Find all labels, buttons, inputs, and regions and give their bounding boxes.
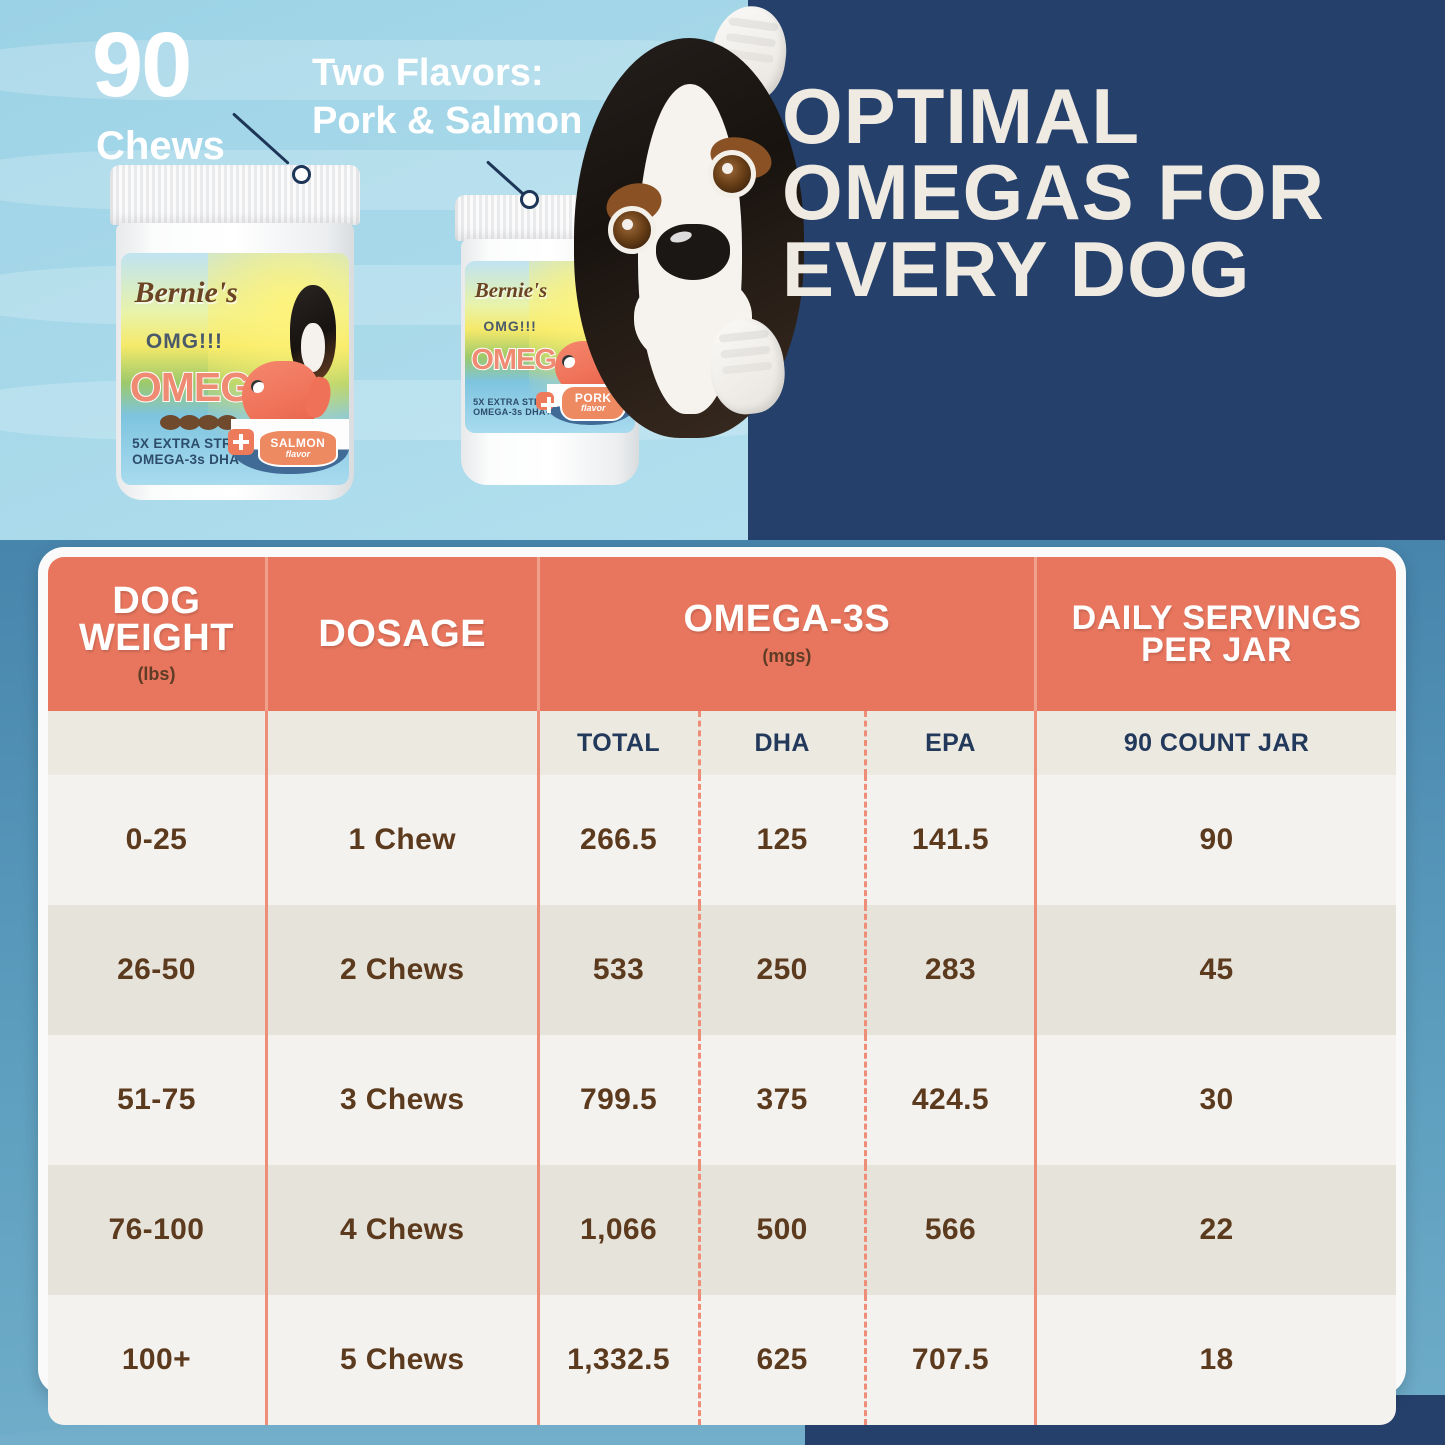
table-header-group: DOG WEIGHT (lbs) DOSAGE OMEGA-3S (mgs) D…	[46, 555, 1398, 711]
cell-epa: 283	[865, 905, 1035, 1035]
infographic-page: Bernie's OMG!!! OMEGAS 5X EXTRA STRENGTH…	[0, 0, 1445, 1445]
dog-nose-icon	[656, 224, 730, 280]
plus-icon	[536, 392, 554, 410]
cell-weight: 100+	[46, 1295, 266, 1427]
cell-dha: 250	[699, 905, 865, 1035]
table-header-row: DOG WEIGHT (lbs) DOSAGE OMEGA-3S (mgs) D…	[46, 555, 1398, 711]
cell-weight: 76-100	[46, 1165, 266, 1295]
label-omg: OMG!!!	[483, 318, 536, 334]
dog-eye-left	[608, 206, 656, 254]
header-daily-servings: DAILY SERVINGS PER JAR	[1036, 555, 1398, 711]
cell-epa: 141.5	[865, 775, 1035, 905]
cell-servings: 90	[1036, 775, 1398, 905]
header-dog-weight: DOG WEIGHT (lbs)	[46, 555, 266, 711]
cell-dosage: 4 Chews	[266, 1165, 538, 1295]
flavor-badge-salmon: SALMON flavor	[258, 429, 338, 467]
cell-dosage: 1 Chew	[266, 775, 538, 905]
cell-weight: 26-50	[46, 905, 266, 1035]
subheader-dha: DHA	[699, 711, 865, 775]
cell-epa: 424.5	[865, 1035, 1035, 1165]
flavors-callout: Two Flavors: Pork & Salmon	[312, 50, 582, 145]
header-omega-3s: OMEGA-3S (mgs)	[538, 555, 1036, 711]
label-omg: OMG!!!	[146, 330, 223, 354]
cell-dosage: 5 Chews	[266, 1295, 538, 1427]
cell-weight: 51-75	[46, 1035, 266, 1165]
cell-servings: 30	[1036, 1035, 1398, 1165]
product-jar-salmon: Bernie's OMG!!! OMEGAS 5X EXTRA STRENGTH…	[110, 165, 360, 500]
dosage-table-container: DOG WEIGHT (lbs) DOSAGE OMEGA-3S (mgs) D…	[38, 547, 1406, 1395]
headline-line-3: EVERY DOG	[782, 231, 1422, 307]
cell-total: 1,332.5	[538, 1295, 699, 1427]
label-brand: Bernie's	[134, 276, 237, 310]
leader-dot-chews	[292, 165, 311, 184]
label-brand: Bernie's	[475, 278, 547, 303]
cell-servings: 18	[1036, 1295, 1398, 1427]
dosage-table: DOG WEIGHT (lbs) DOSAGE OMEGA-3S (mgs) D…	[44, 553, 1400, 1429]
jar-lid	[110, 165, 360, 225]
cell-total: 1,066	[538, 1165, 699, 1295]
table-row: 76-100 4 Chews 1,066 500 566 22	[46, 1165, 1398, 1295]
subheader-epa: EPA	[865, 711, 1035, 775]
cell-servings: 45	[1036, 905, 1398, 1035]
chew-count-number: 90	[92, 22, 190, 109]
table-subheader-row: TOTAL DHA EPA 90 COUNT JAR	[46, 711, 1398, 775]
cell-dosage: 3 Chews	[266, 1035, 538, 1165]
table-row: 51-75 3 Chews 799.5 375 424.5 30	[46, 1035, 1398, 1165]
cell-dha: 625	[699, 1295, 865, 1427]
cell-servings: 22	[1036, 1165, 1398, 1295]
cell-dosage: 2 Chews	[266, 905, 538, 1035]
headline-line-1: OPTIMAL	[782, 78, 1422, 154]
table-row: 26-50 2 Chews 533 250 283 45	[46, 905, 1398, 1035]
headline-line-2: OMEGAS FOR	[782, 154, 1422, 230]
leader-dot-flavors	[520, 190, 539, 209]
subheader-jar-count: 90 COUNT JAR	[1036, 711, 1398, 775]
subheader-blank-1	[46, 711, 266, 775]
header-dosage: DOSAGE	[266, 555, 538, 711]
table-row: 100+ 5 Chews 1,332.5 625 707.5 18	[46, 1295, 1398, 1427]
cell-total: 266.5	[538, 775, 699, 905]
chew-count-label: Chews	[96, 124, 225, 169]
jar-label: Bernie's OMG!!! OMEGAS 5X EXTRA STRENGTH…	[121, 253, 350, 485]
page-headline: OPTIMAL OMEGAS FOR EVERY DOG	[782, 78, 1422, 307]
table-row: 0-25 1 Chew 266.5 125 141.5 90	[46, 775, 1398, 905]
cell-epa: 707.5	[865, 1295, 1035, 1427]
cell-total: 533	[538, 905, 699, 1035]
jar-body: Bernie's OMG!!! OMEGAS 5X EXTRA STRENGTH…	[116, 223, 354, 500]
label-chew-icons	[160, 415, 238, 431]
cell-weight: 0-25	[46, 775, 266, 905]
cell-dha: 125	[699, 775, 865, 905]
cell-epa: 566	[865, 1165, 1035, 1295]
subheader-blank-2	[266, 711, 538, 775]
plus-icon	[228, 429, 254, 455]
cell-dha: 375	[699, 1035, 865, 1165]
cell-total: 799.5	[538, 1035, 699, 1165]
subheader-total: TOTAL	[538, 711, 699, 775]
dog-eye-right	[708, 150, 756, 198]
cell-dha: 500	[699, 1165, 865, 1295]
